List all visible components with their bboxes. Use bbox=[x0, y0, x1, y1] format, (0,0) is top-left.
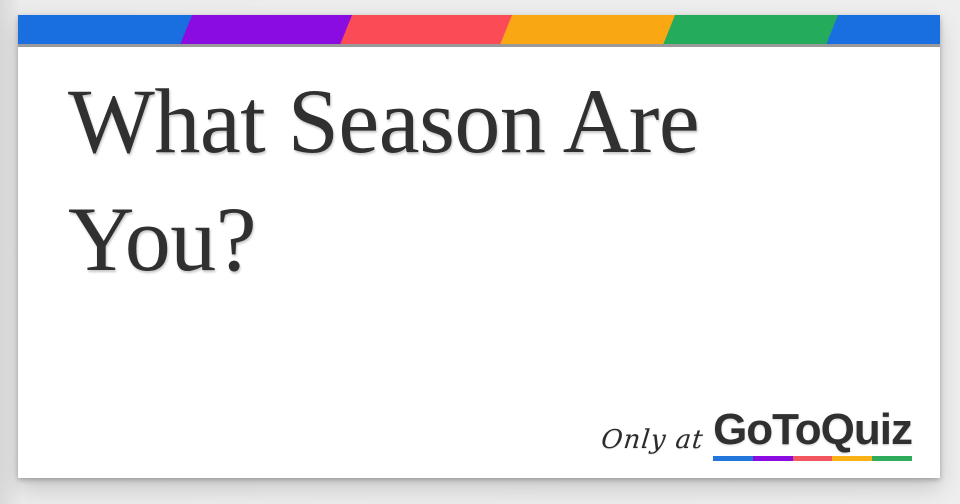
header-segment-red bbox=[338, 15, 518, 44]
header-segment-orange bbox=[498, 15, 681, 44]
header-segment-purple bbox=[178, 15, 358, 44]
gotoquiz-logo[interactable]: Only at GoToQuiz bbox=[601, 408, 912, 461]
logo-brand-wrap: GoToQuiz bbox=[713, 408, 912, 461]
logo-rainbow-rule bbox=[713, 456, 912, 461]
header-segment-blue-end bbox=[824, 15, 940, 44]
logo-prefix-text: Only at bbox=[599, 425, 705, 461]
header-segment-blue bbox=[18, 15, 201, 44]
header-segment-green bbox=[661, 15, 841, 44]
page-title: What Season Are You? bbox=[68, 63, 868, 299]
rainbow-header-bar bbox=[18, 15, 940, 44]
logo-brand-text: GoToQuiz bbox=[713, 408, 912, 452]
logo-rule-orange bbox=[832, 456, 872, 461]
logo-rule-green bbox=[872, 456, 912, 461]
logo-rule-red bbox=[793, 456, 833, 461]
logo-rule-blue bbox=[713, 456, 753, 461]
logo-rule-purple bbox=[753, 456, 793, 461]
quiz-title-card: What Season Are You? Only at GoToQuiz bbox=[18, 15, 940, 478]
header-bar-underline bbox=[18, 44, 940, 47]
